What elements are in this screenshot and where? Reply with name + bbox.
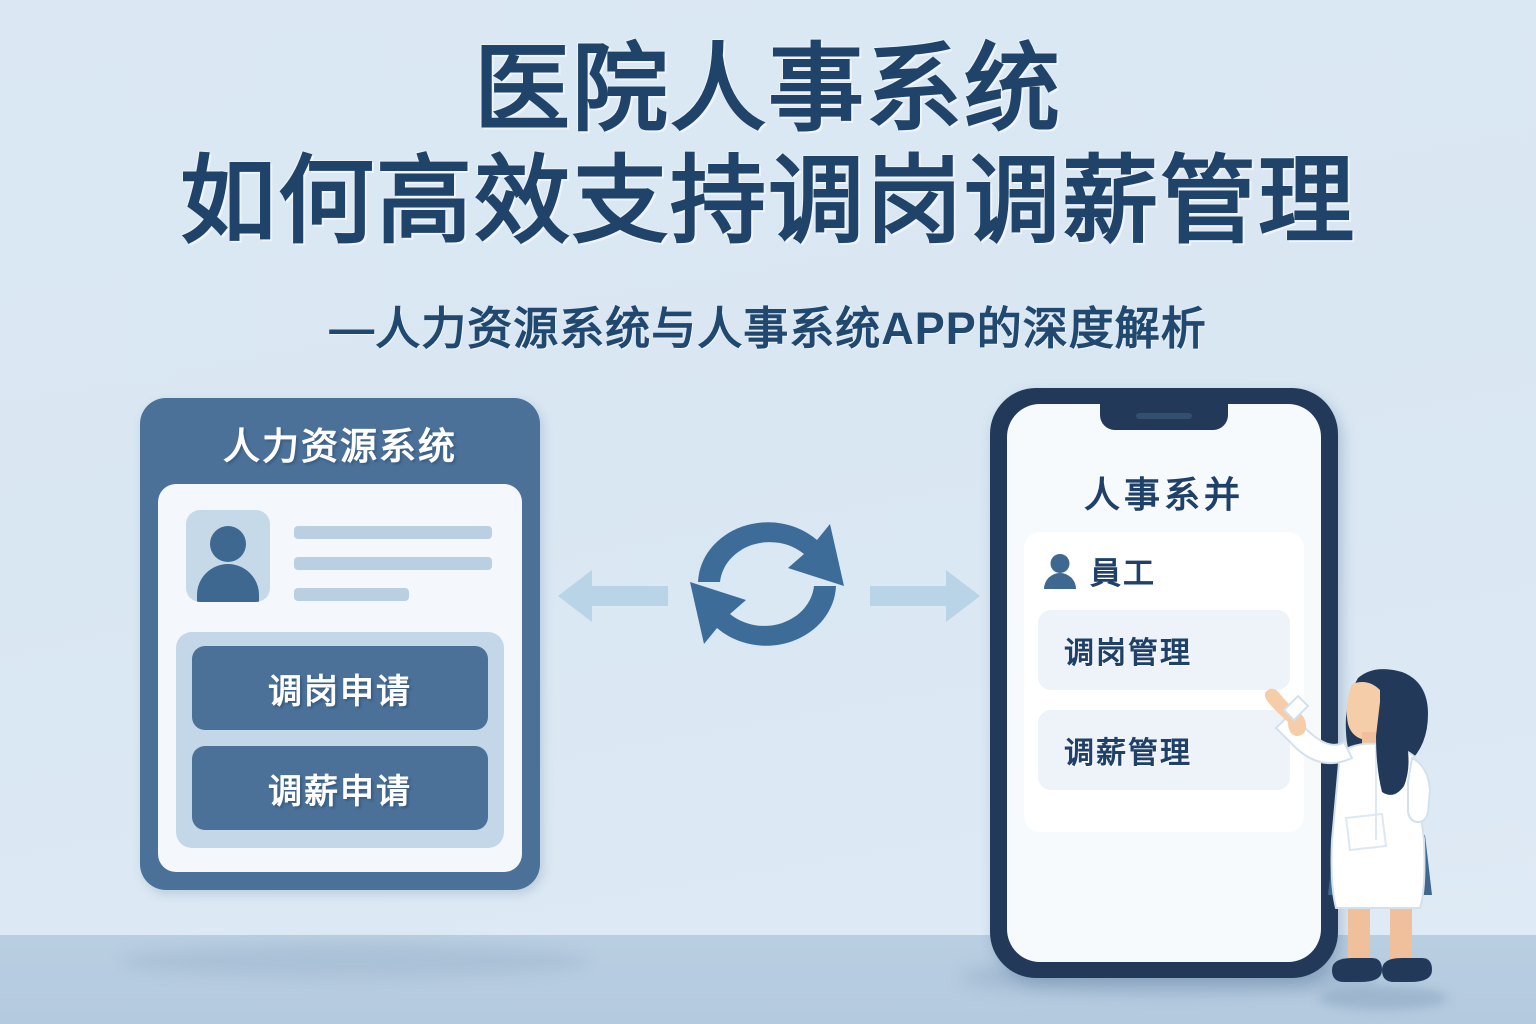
phone-employee-label: 員工 xyxy=(1090,548,1156,593)
salary-adjustment-application-button[interactable]: 调薪申请 xyxy=(192,746,488,830)
arrow-right-icon xyxy=(870,566,980,626)
hr-card-body: 调岗申请 调薪申请 xyxy=(158,484,522,872)
phone-speaker-icon xyxy=(1136,413,1192,419)
poster-canvas: 医院人事系统 如何高效支持调岗调薪管理 —人力资源系统与人事系统APP的深度解析… xyxy=(0,0,1536,1024)
arrow-left-icon xyxy=(558,566,668,626)
page-subtitle: —人力资源系统与人事系统APP的深度解析 xyxy=(0,292,1536,357)
female-doctor-pointing-illustration xyxy=(1240,640,1536,1024)
phone-app-title: 人事系并 xyxy=(1007,466,1321,518)
placeholder-line xyxy=(294,526,492,539)
hr-card-ground-shadow xyxy=(120,944,590,978)
page-title: 医院人事系统 如何高效支持调岗调薪管理 xyxy=(0,34,1536,258)
person-avatar-icon xyxy=(186,510,270,602)
avatar-head-shape xyxy=(210,526,246,562)
phone-employee-row[interactable]: 員工 xyxy=(1044,548,1156,593)
title-line-1: 医院人事系统 xyxy=(0,34,1536,146)
phone-notch xyxy=(1100,404,1228,430)
avatar-body-shape xyxy=(197,564,259,602)
placeholder-line xyxy=(294,588,409,601)
employee-profile-row xyxy=(186,510,496,610)
hr-system-card: 人力资源系统 调岗申请 调薪申请 xyxy=(140,398,540,890)
placeholder-line xyxy=(294,557,492,570)
sync-refresh-icon xyxy=(672,490,862,675)
title-line-2: 如何高效支持调岗调薪管理 xyxy=(0,146,1536,258)
sync-connector-group xyxy=(552,470,972,710)
profile-placeholder-lines xyxy=(294,526,494,601)
person-ground-shadow xyxy=(1318,986,1448,1010)
person-icon xyxy=(1044,554,1076,588)
hr-action-button-group: 调岗申请 调薪申请 xyxy=(176,632,504,848)
hr-card-title: 人力资源系统 xyxy=(140,416,540,470)
transfer-application-button[interactable]: 调岗申请 xyxy=(192,646,488,730)
